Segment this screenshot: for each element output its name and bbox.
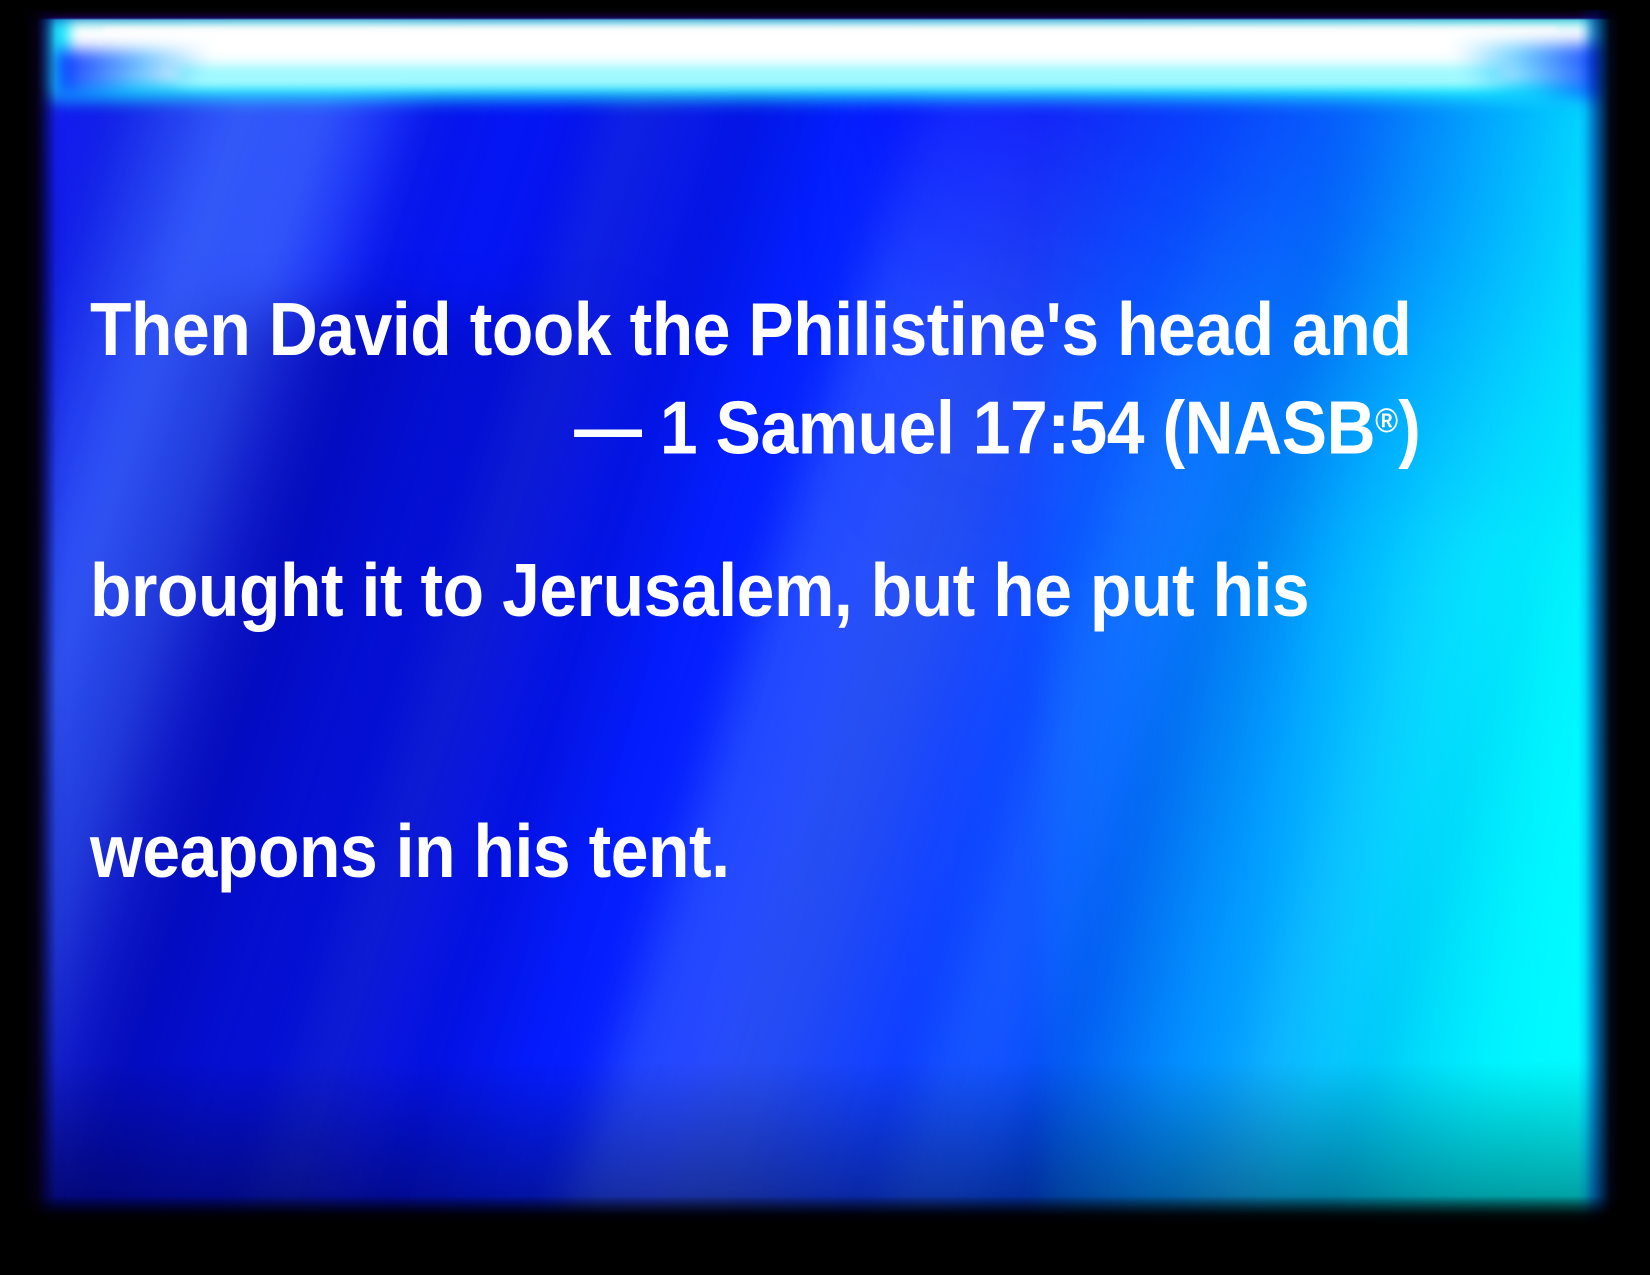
attribution-translation-close: )	[1398, 385, 1420, 469]
verse-text-block: Then David took the Philistine's head an…	[90, 112, 1420, 1069]
attribution-translation-open: (NASB	[1163, 385, 1376, 469]
verse-attribution: — 1 Samuel 17:54 (NASB®)	[90, 378, 1420, 471]
verse-slide: Then David took the Philistine's head an…	[0, 0, 1650, 1275]
attribution-em-dash: —	[574, 385, 641, 469]
verse-line-1: Then David took the Philistine's head an…	[90, 286, 1420, 373]
verse-line-3: weapons in his tent.	[90, 808, 1420, 895]
registered-trademark-icon: ®	[1375, 402, 1398, 440]
attribution-reference: 1 Samuel 17:54	[660, 385, 1144, 469]
verse-line-2: brought it to Jerusalem, but he put his	[90, 547, 1420, 634]
slide-artwork-canvas: Then David took the Philistine's head an…	[26, 10, 1624, 1232]
